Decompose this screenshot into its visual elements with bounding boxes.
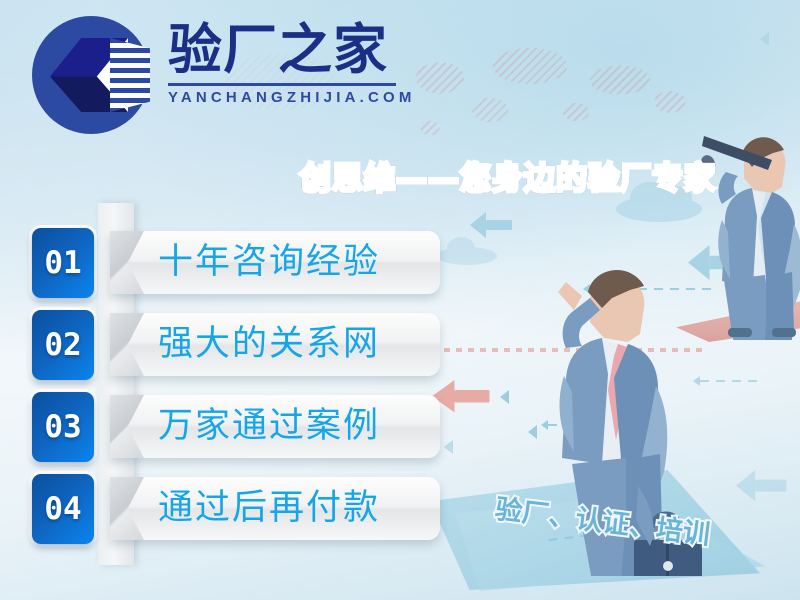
- triangle-marker: [444, 440, 453, 454]
- logo-divider: [168, 83, 396, 86]
- brand-logo: 验厂之家 YANCHANGZHIJIA.COM: [32, 16, 402, 141]
- page-tagline: 创思维——您身边的验厂专家: [300, 153, 716, 198]
- item-bar[interactable]: 十年咨询经验: [110, 231, 440, 294]
- item-label: 强大的关系网: [158, 313, 380, 376]
- hexagon-cube-logo-icon: [32, 16, 150, 134]
- dashed-divider: [700, 380, 760, 382]
- brand-name-en: YANCHANGZHIJIA.COM: [168, 89, 400, 106]
- item-bar[interactable]: 万家通过案例: [110, 395, 440, 458]
- item-number-badge: 02: [32, 310, 94, 380]
- cloud-icon: [616, 196, 702, 222]
- poster-canvas: 验厂之家 YANCHANGZHIJIA.COM 创思维——您身边的验厂专家 01…: [0, 0, 800, 600]
- item-label: 万家通过案例: [158, 395, 380, 458]
- item-label: 通过后再付款: [158, 477, 380, 540]
- item-number-badge: 01: [32, 228, 94, 298]
- brand-name-cn: 验厂之家: [168, 20, 400, 80]
- item-number-badge: 04: [32, 474, 94, 544]
- triangle-marker: [760, 32, 769, 46]
- item-bar[interactable]: 强大的关系网: [110, 313, 440, 376]
- item-number-badge: 03: [32, 392, 94, 462]
- item-bar[interactable]: 通过后再付款: [110, 477, 440, 540]
- cloud-icon: [437, 247, 497, 265]
- item-label: 十年咨询经验: [158, 231, 380, 294]
